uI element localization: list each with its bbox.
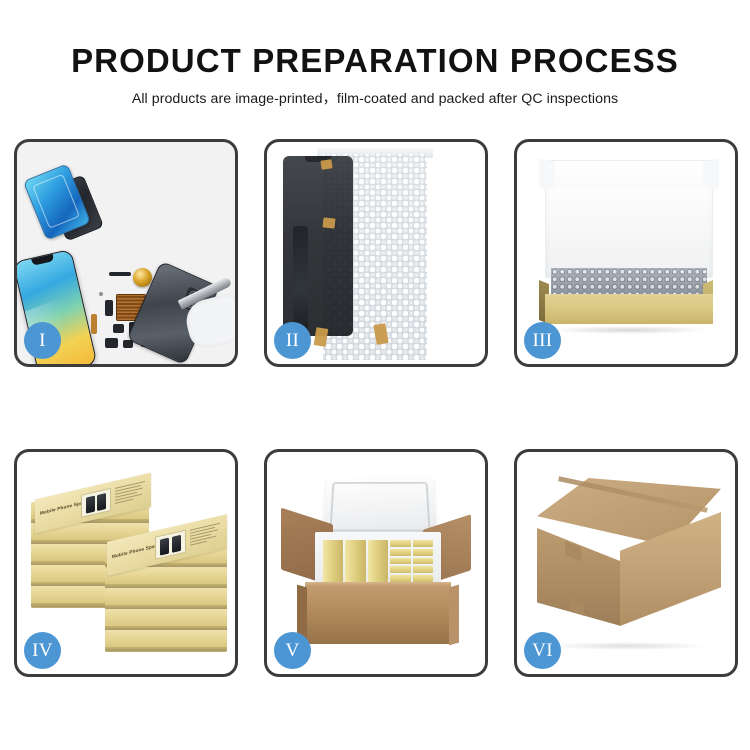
speaker-coil-icon [133, 268, 152, 287]
stacked-box [105, 630, 227, 651]
box-stack-icon: Mobile Phone Spare Parts Mobile Phone Sp [31, 476, 227, 662]
box-spec-lines [115, 481, 145, 506]
step-badge-1: I [24, 322, 61, 359]
part-chip-icon [109, 272, 131, 276]
stacked-box [105, 609, 227, 630]
page-title: PRODUCT PREPARATION PROCESS [0, 0, 750, 79]
part-flex-icon [91, 314, 97, 334]
foam-lid-icon [323, 477, 437, 538]
process-step-5[interactable]: V [264, 449, 488, 677]
box-window-icon [81, 488, 111, 518]
process-step-grid: I II [14, 139, 738, 677]
process-step-1[interactable]: I [14, 139, 238, 367]
packed-box-column [345, 540, 365, 582]
kraft-box-front-icon [545, 294, 713, 324]
packed-box-column [323, 540, 343, 582]
process-step-6[interactable]: VI [514, 449, 738, 677]
screw-icon [99, 292, 103, 296]
packed-box-column [390, 540, 410, 582]
process-step-3[interactable]: III [514, 139, 738, 367]
tape-icon [323, 217, 336, 228]
step-badge-5: V [274, 632, 311, 669]
part-chip-icon [105, 338, 118, 348]
box-window-icon [155, 530, 186, 560]
drop-shadow [551, 326, 707, 334]
carton-front-icon [305, 586, 451, 644]
tape-icon [320, 159, 332, 169]
infographic-page: PRODUCT PREPARATION PROCESS All products… [0, 0, 750, 750]
step-badge-4: IV [24, 632, 61, 669]
packed-boxes-icon [323, 540, 433, 582]
page-subtitle: All products are image-printed，film-coat… [0, 79, 750, 108]
stacked-box [105, 588, 227, 609]
process-step-2[interactable]: II [264, 139, 488, 367]
header: PRODUCT PREPARATION PROCESS All products… [0, 0, 750, 108]
step-badge-2: II [274, 322, 311, 359]
process-step-4[interactable]: Mobile Phone Spare Parts Mobile Phone Sp [14, 449, 238, 677]
drop-shadow [547, 642, 707, 650]
packed-box-column [413, 540, 433, 582]
step-badge-6: VI [524, 632, 561, 669]
bubble-wrap-fill-icon [551, 268, 707, 296]
part-chip-icon [113, 324, 124, 333]
part-chip-icon [105, 300, 113, 316]
box-spec-lines [190, 523, 220, 548]
step-badge-3: III [524, 322, 561, 359]
flex-ribbon-icon [293, 226, 308, 332]
packed-box-column [368, 540, 388, 582]
foam-insert-icon [549, 188, 709, 274]
